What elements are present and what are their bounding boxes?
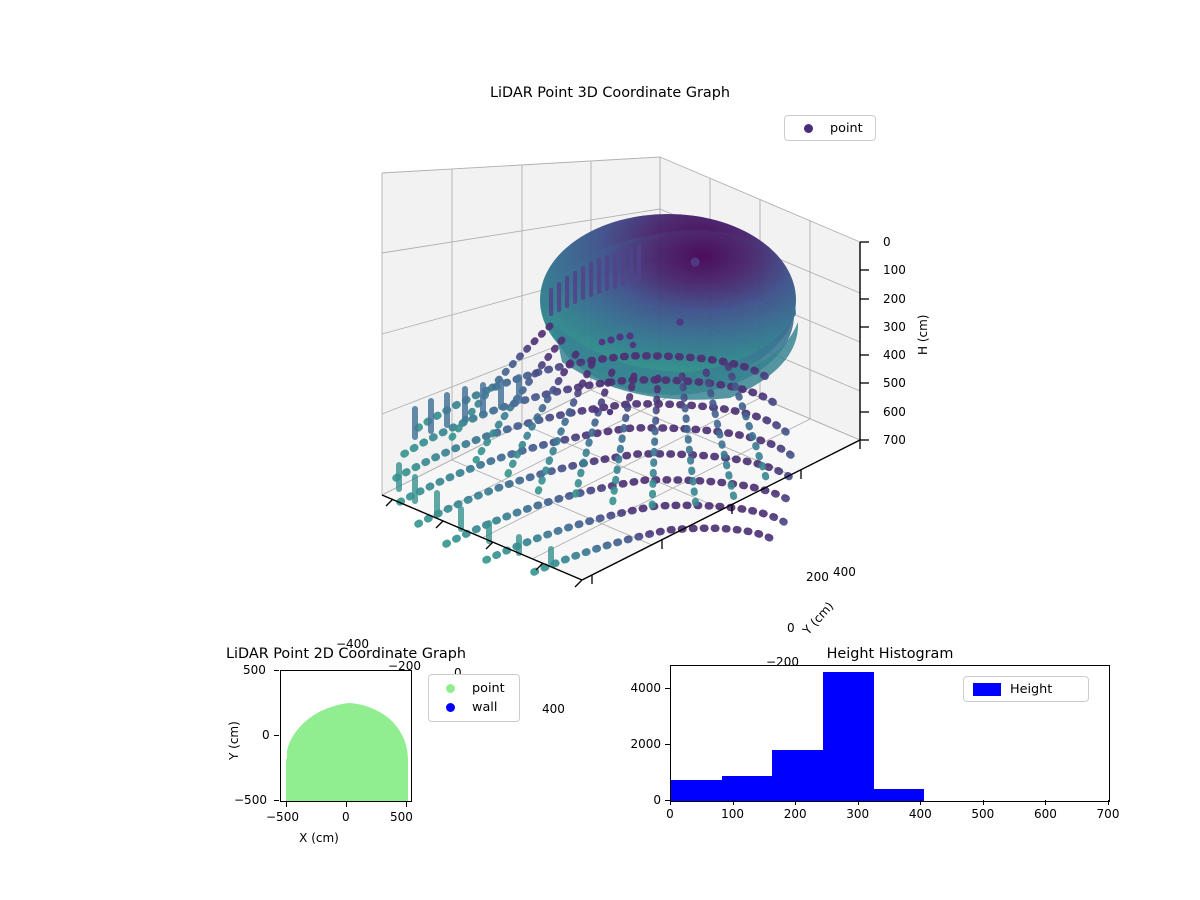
histogram-title: Height Histogram [730,646,1050,662]
plot2d-title: LiDAR Point 2D Coordinate Graph [190,646,502,662]
histogram-xtick-label: 700 [1097,807,1120,821]
plot3d-ztick-5: 500 [883,376,906,390]
matplotlib-figure: LiDAR Point 3D Coordinate Graph point [0,0,1200,900]
plot2d-xtick-2: 500 [390,810,413,824]
histogram-legend: Height [963,676,1089,702]
plot3d-ytick-2: 0 [787,621,795,635]
plot2d-ytick-0: 500 [243,663,266,677]
plot2d-xtick-mark-1 [346,802,347,807]
plot2d-point-cloud [281,671,412,802]
plot2d-ylabel: Y (cm) [227,721,241,760]
histogram-bar [772,750,823,801]
height-patch-icon [973,683,1001,696]
plot3d-ztick-0: 0 [883,235,891,249]
histogram-xtick-label: 600 [1034,807,1057,821]
plot3d-ztick-2: 200 [883,292,906,306]
histogram-xtick-mark [1045,800,1046,805]
plot2d-xtick-mark-2 [406,802,407,807]
plot2d-axes[interactable] [280,670,412,802]
histogram-xtick-label: 200 [784,807,807,821]
plot3d-ytick-4: 400 [833,565,856,579]
plot3d-ztick-1: 100 [883,263,906,277]
plot3d-axes[interactable]: −400 −200 0 200 400 −400 −200 0 200 400 … [300,110,920,630]
plot3d-ztick-7: 700 [883,433,906,447]
histogram-bar [722,776,773,801]
plot2d-legend: point wall [428,674,520,722]
histogram-xtick-label: 0 [666,807,674,821]
plot2d-xlabel: X (cm) [299,831,339,845]
histogram-ytick-mark [665,688,670,689]
histogram-xtick-mark [795,800,796,805]
histogram-ytick-mark [665,800,670,801]
point-marker-icon [446,684,455,693]
histogram-ytick-mark [665,744,670,745]
histogram-ytick-label: 2000 [630,737,661,751]
plot3d-canvas [300,110,920,630]
legend-label-wall: wall [472,700,497,715]
histogram-xtick-mark [858,800,859,805]
histogram-xtick-mark [670,800,671,805]
histogram-bar [823,672,874,801]
histogram-xtick-mark [920,800,921,805]
plot3d-ytick-3: 200 [806,570,829,584]
histogram-bar [874,789,925,801]
legend-item-height: Height [973,682,1052,697]
plot2d-ytick-2: −500 [234,793,267,807]
histogram-ytick-label: 4000 [630,681,661,695]
plot2d-ytick-mark-1 [274,735,279,736]
plot2d-xtick-mark-0 [286,802,287,807]
histogram-xtick-mark [733,800,734,805]
histogram-xtick-label: 400 [909,807,932,821]
legend-item-wall: wall [437,700,505,715]
plot2d-xtick-0: −500 [266,810,299,824]
plot2d-ytick-mark-0 [274,670,279,671]
histogram-xtick-label: 500 [971,807,994,821]
plot3d-ztick-4: 400 [883,348,906,362]
histogram-bar [671,780,722,801]
legend-label-point: point [472,681,505,696]
histogram-xtick-label: 100 [721,807,744,821]
wall-marker-icon [446,703,455,712]
plot2d-xtick-1: 0 [342,810,350,824]
legend-item-point: point [437,681,505,696]
plot3d-zlabel: H (cm) [916,315,930,356]
histogram-xtick-label: 300 [846,807,869,821]
plot2d-ytick-mark-2 [274,800,279,801]
plot3d-ztick-6: 600 [883,405,906,419]
histogram-ytick-label: 0 [653,793,661,807]
plot3d-ztick-3: 300 [883,320,906,334]
legend-label-height: Height [1010,682,1052,697]
plot3d-title: LiDAR Point 3D Coordinate Graph [400,85,820,101]
plot2d-ytick-1: 0 [262,728,270,742]
histogram-xtick-mark [1108,800,1109,805]
plot3d-xtick-4: 400 [542,702,565,716]
histogram-xtick-mark [983,800,984,805]
